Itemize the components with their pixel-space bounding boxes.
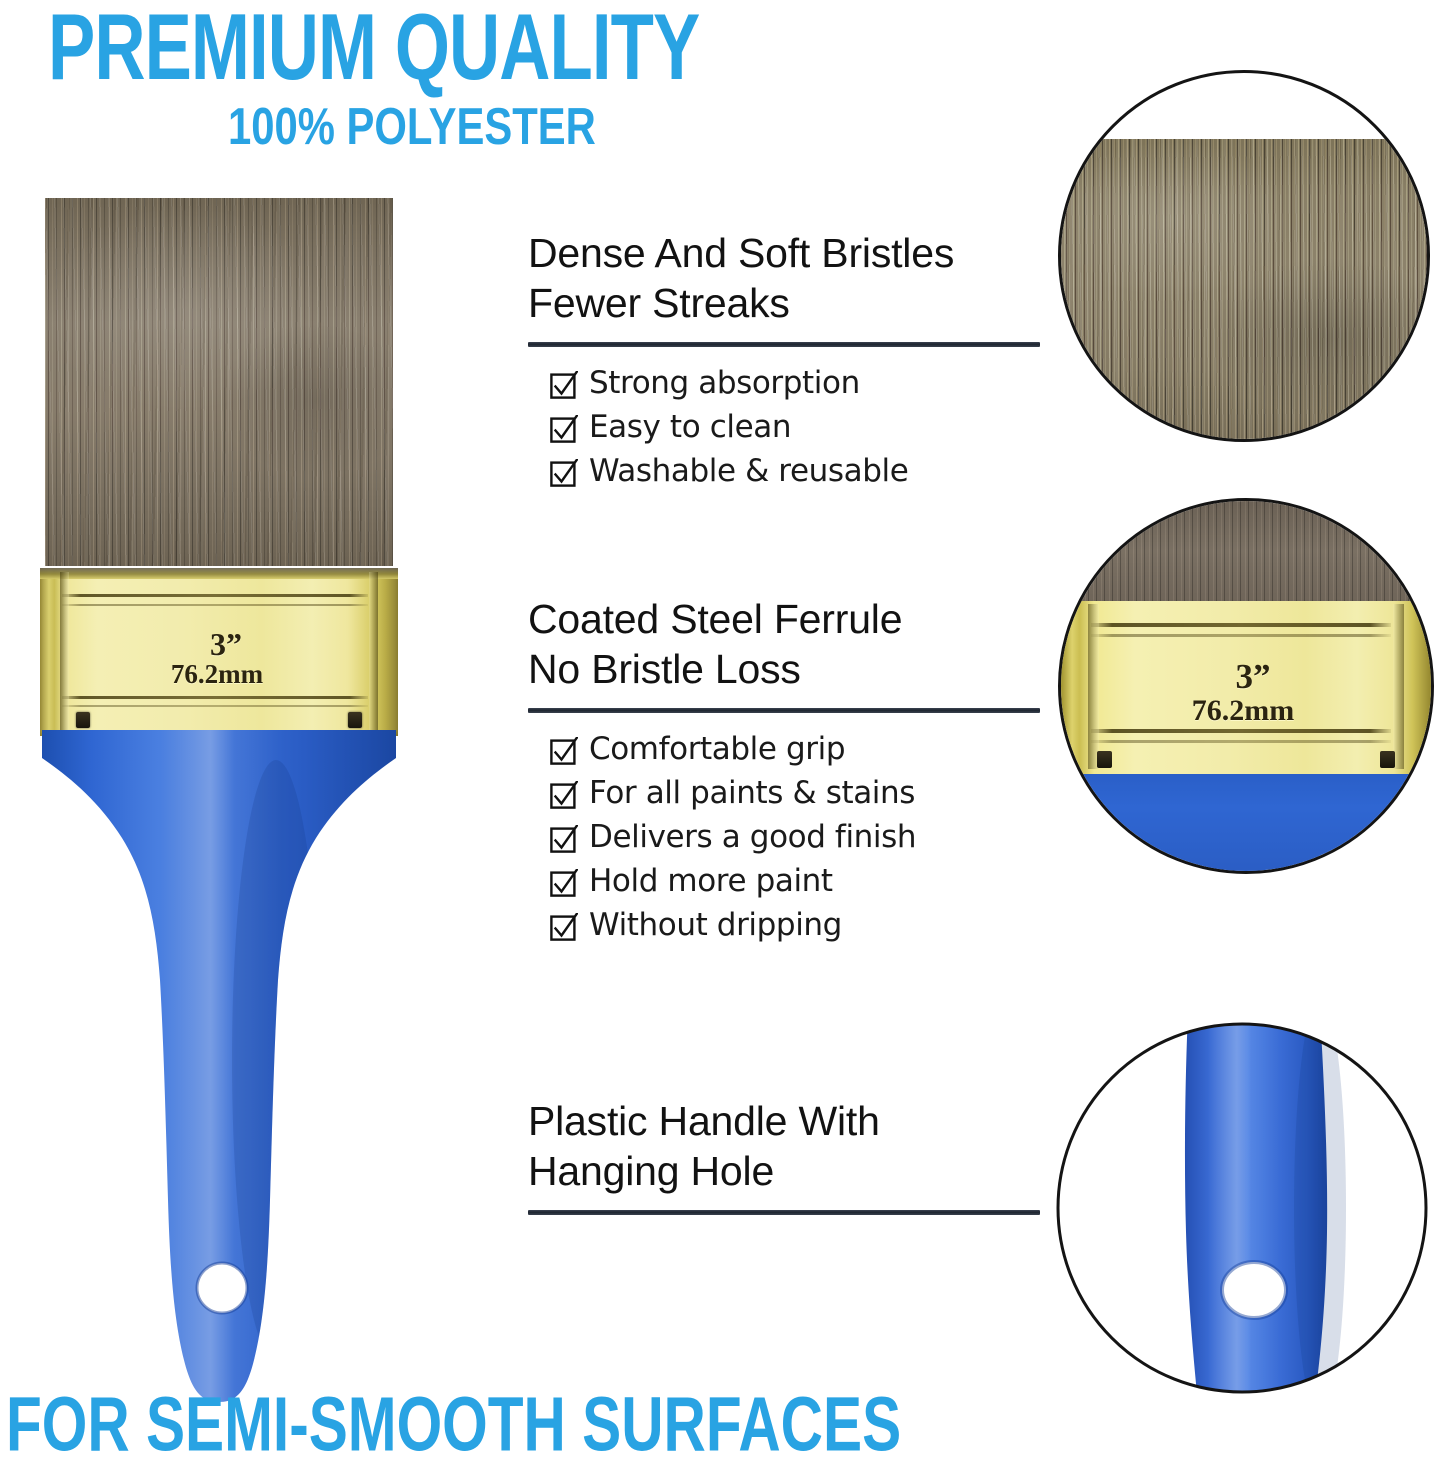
feature-divider bbox=[528, 1210, 1040, 1215]
list-item: Comfortable grip bbox=[550, 731, 1048, 767]
feature-heading-line: Fewer Streaks bbox=[528, 278, 1048, 328]
list-item-label: Hold more paint bbox=[589, 863, 833, 899]
checkbox-checked-icon bbox=[550, 863, 580, 897]
ferrule-ridge bbox=[1091, 623, 1391, 627]
list-item: Easy to clean bbox=[550, 409, 1048, 445]
handle-closeup-shadow bbox=[1294, 1022, 1346, 1394]
ferrule-top-edge bbox=[40, 568, 398, 579]
list-item: Strong absorption bbox=[550, 365, 1048, 401]
checkbox-checked-icon bbox=[550, 731, 580, 765]
footer-banner: FOR SEMI-SMOOTH SURFACES bbox=[6, 1382, 906, 1452]
feature-block: Coated Steel Ferrule No Bristle Loss Com… bbox=[528, 594, 1048, 951]
checkbox-checked-icon bbox=[550, 819, 580, 853]
ferrule-ridge bbox=[1091, 634, 1391, 637]
header-block: PREMIUM QUALITY 100% POLYESTER bbox=[0, 0, 900, 170]
handle-hole-closeup bbox=[1048, 1022, 1436, 1394]
bristle-tips-closeup bbox=[1058, 139, 1430, 442]
feature-block: Plastic Handle With Hanging Hole bbox=[528, 1096, 1048, 1215]
list-item-label: Comfortable grip bbox=[589, 731, 845, 767]
page-title: PREMIUM QUALITY bbox=[48, 0, 830, 98]
list-item: Without dripping bbox=[550, 907, 1048, 943]
page-subtitle: 100% POLYESTER bbox=[228, 99, 596, 156]
feature-heading: Plastic Handle With Hanging Hole bbox=[528, 1096, 1048, 1196]
checkbox-checked-icon bbox=[550, 907, 580, 941]
feature-bullet-list: Strong absorption Easy to clean Washable… bbox=[528, 365, 1048, 489]
ferrule-size-metric: 76.2mm bbox=[36, 661, 398, 688]
feature-heading-line: Dense And Soft Bristles bbox=[528, 228, 1048, 278]
feature-heading: Dense And Soft Bristles Fewer Streaks bbox=[528, 228, 1048, 328]
bristle-band-closeup bbox=[1061, 501, 1431, 601]
ferrule-size-inches: 3” bbox=[54, 628, 398, 660]
ferrule-size-stamp: 3” 76.2mm bbox=[1061, 659, 1431, 726]
checkbox-checked-icon bbox=[550, 775, 580, 809]
ferrule-rivet bbox=[1097, 751, 1112, 768]
feature-bullet-list: Comfortable grip For all paints & stains… bbox=[528, 731, 1048, 943]
ferrule-closeup: 3” 76.2mm bbox=[1061, 601, 1431, 774]
handle-band-closeup bbox=[1061, 774, 1431, 874]
list-item-label: Washable & reusable bbox=[589, 453, 908, 489]
ferrule-size-inches: 3” bbox=[1075, 659, 1431, 694]
ferrule-size-metric: 76.2mm bbox=[1058, 696, 1431, 726]
ferrule-rivet bbox=[1380, 751, 1395, 768]
list-item-label: Easy to clean bbox=[589, 409, 791, 445]
ferrule-rivet bbox=[348, 712, 362, 728]
footer-banner-label: FOR SEMI-SMOOTH SURFACES bbox=[6, 1382, 843, 1467]
product-image-main-brush: 3” 76.2mm bbox=[40, 190, 400, 1400]
list-item-label: For all paints & stains bbox=[589, 775, 915, 811]
list-item-label: Delivers a good finish bbox=[589, 819, 916, 855]
feature-heading: Coated Steel Ferrule No Bristle Loss bbox=[528, 594, 1048, 694]
ferrule-ridge bbox=[62, 696, 368, 699]
ferrule-ridge bbox=[62, 705, 368, 707]
brush-bristles bbox=[45, 198, 393, 566]
handle-shadow bbox=[232, 760, 320, 1360]
brush-handle bbox=[40, 730, 398, 1402]
list-item: Delivers a good finish bbox=[550, 819, 1048, 855]
ferrule-size-stamp: 3” 76.2mm bbox=[40, 628, 398, 688]
checkbox-checked-icon bbox=[550, 453, 580, 487]
callout-ferrule-detail: 3” 76.2mm bbox=[1058, 498, 1434, 874]
ferrule-ridge bbox=[1091, 729, 1391, 733]
list-item: Hold more paint bbox=[550, 863, 1048, 899]
feature-block: Dense And Soft Bristles Fewer Streaks St… bbox=[528, 228, 1048, 497]
callout-circle-frame: 3” 76.2mm bbox=[1058, 498, 1434, 874]
list-item: For all paints & stains bbox=[550, 775, 1048, 811]
ferrule-rivet bbox=[76, 712, 90, 728]
ferrule-ridge bbox=[62, 604, 368, 606]
callout-circle-frame bbox=[1058, 70, 1430, 442]
list-item-label: Without dripping bbox=[589, 907, 842, 943]
callout-handle-hole-detail bbox=[1048, 1022, 1436, 1394]
feature-heading-line: Hanging Hole bbox=[528, 1146, 1048, 1196]
ferrule-side-crease bbox=[60, 572, 69, 732]
checkbox-checked-icon bbox=[550, 365, 580, 399]
brush-ferrule: 3” 76.2mm bbox=[40, 568, 398, 736]
ferrule-ridge bbox=[1091, 740, 1391, 743]
callout-bristle-tips-detail bbox=[1058, 70, 1430, 442]
list-item: Washable & reusable bbox=[550, 453, 1048, 489]
feature-heading-line: Coated Steel Ferrule bbox=[528, 594, 1048, 644]
feature-heading-line: No Bristle Loss bbox=[528, 644, 1048, 694]
feature-heading-line: Plastic Handle With bbox=[528, 1096, 1048, 1146]
handle-closeup-highlight bbox=[1208, 1022, 1280, 1394]
checkbox-checked-icon bbox=[550, 409, 580, 443]
feature-divider bbox=[528, 708, 1040, 713]
feature-divider bbox=[528, 342, 1040, 347]
ferrule-side-crease bbox=[369, 572, 378, 732]
list-item-label: Strong absorption bbox=[589, 365, 860, 401]
ferrule-ridge bbox=[62, 594, 368, 597]
